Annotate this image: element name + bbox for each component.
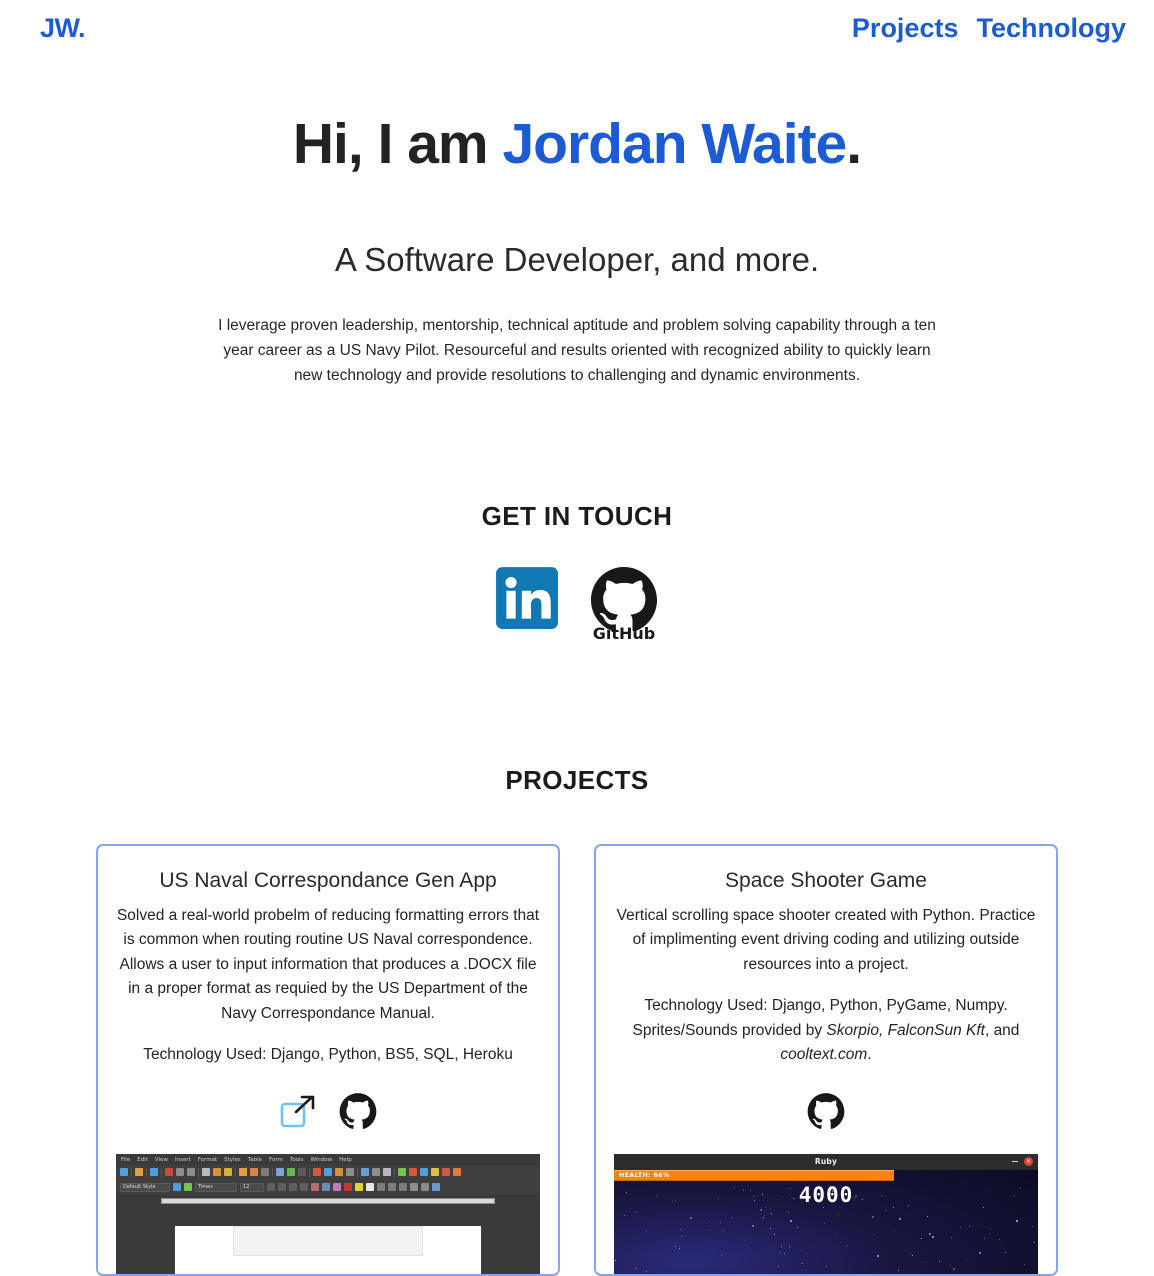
subscript-icon[interactable] bbox=[322, 1183, 330, 1191]
toolbar-separator bbox=[309, 1168, 310, 1177]
hero-subtitle: A Software Developer, and more. bbox=[0, 240, 1154, 280]
find-replace-icon[interactable] bbox=[276, 1168, 284, 1176]
font-color-icon[interactable] bbox=[344, 1183, 352, 1191]
lo-formatting-toolbar: Default Style Times 12 bbox=[116, 1180, 540, 1195]
project-description: Solved a real-world probelm of reducing … bbox=[116, 904, 540, 1026]
undo-icon[interactable] bbox=[250, 1168, 258, 1176]
increase-indent-icon[interactable] bbox=[432, 1183, 440, 1191]
github-icon: GitHub bbox=[588, 565, 660, 641]
save-icon[interactable] bbox=[150, 1168, 158, 1176]
project-technology: Technology Used: Django, Python, BS5, SQ… bbox=[116, 1043, 540, 1067]
underline-icon[interactable] bbox=[289, 1183, 297, 1191]
project-card[interactable]: Space Shooter Game Vertical scrolling sp… bbox=[594, 844, 1058, 1275]
health-label: HEALTH: 66% bbox=[614, 1171, 669, 1179]
font-size-value: 12 bbox=[243, 1184, 249, 1190]
new-style-icon[interactable] bbox=[184, 1183, 192, 1191]
contact-heading: GET IN TOUCH bbox=[0, 501, 1154, 532]
hero-greeting: Hi, I am bbox=[293, 112, 503, 176]
formatting-marks-icon[interactable] bbox=[298, 1168, 306, 1176]
page-break-icon[interactable] bbox=[361, 1168, 369, 1176]
github-link[interactable]: GitHub bbox=[588, 565, 660, 641]
project-thumbnail[interactable]: File Edit View Insert Format Styles Tabl… bbox=[116, 1154, 540, 1274]
italic-icon[interactable] bbox=[278, 1183, 286, 1191]
primary-navigation: Projects Technology bbox=[852, 15, 1126, 42]
paragraph-style-value: Default Style bbox=[123, 1184, 155, 1190]
libreoffice-writer-screenshot: File Edit View Insert Format Styles Tabl… bbox=[116, 1154, 540, 1274]
bold-icon[interactable] bbox=[267, 1183, 275, 1191]
project-technology-suffix: . bbox=[867, 1046, 871, 1063]
brand-logo[interactable]: JW. bbox=[40, 15, 85, 42]
social-links: GitHub bbox=[0, 565, 1154, 641]
font-name-combo[interactable]: Times bbox=[195, 1183, 237, 1192]
highlight-color-icon[interactable] bbox=[355, 1183, 363, 1191]
spelling-icon[interactable] bbox=[287, 1168, 295, 1176]
unordered-list-icon[interactable] bbox=[410, 1183, 418, 1191]
health-bar-fill: HEALTH: 66% bbox=[614, 1170, 894, 1181]
align-justify-icon[interactable] bbox=[399, 1183, 407, 1191]
project-title: Space Shooter Game bbox=[614, 868, 1038, 894]
redo-icon[interactable] bbox=[261, 1168, 269, 1176]
project-credit-skorpio: Skorpio, FalconSun Kft bbox=[826, 1022, 985, 1039]
page-title: Hi, I am Jordan Waite. bbox=[0, 112, 1154, 178]
lo-menu-bar: File Edit View Insert Format Styles Tabl… bbox=[116, 1154, 540, 1165]
track-changes-icon[interactable] bbox=[453, 1168, 461, 1176]
nav-link-technology[interactable]: Technology bbox=[976, 15, 1126, 42]
ordered-list-icon[interactable] bbox=[421, 1183, 429, 1191]
clear-formatting-icon[interactable] bbox=[333, 1183, 341, 1191]
hero-period: . bbox=[846, 112, 861, 176]
strikethrough-icon[interactable] bbox=[300, 1183, 308, 1191]
align-right-icon[interactable] bbox=[388, 1183, 396, 1191]
font-size-combo[interactable]: 12 bbox=[240, 1183, 264, 1192]
font-name-value: Times bbox=[198, 1184, 213, 1190]
linkedin-icon bbox=[494, 565, 560, 631]
clone-formatting-icon[interactable] bbox=[239, 1168, 247, 1176]
bookmark-icon[interactable] bbox=[420, 1168, 428, 1176]
new-doc-icon[interactable] bbox=[120, 1168, 128, 1176]
align-left-icon[interactable] bbox=[366, 1183, 374, 1191]
horizontal-ruler[interactable] bbox=[161, 1198, 496, 1204]
health-bar: HEALTH: 66% bbox=[614, 1170, 1038, 1181]
github-repo-link[interactable] bbox=[806, 1092, 846, 1132]
insert-chart-icon[interactable] bbox=[335, 1168, 343, 1176]
comment-icon[interactable] bbox=[442, 1168, 450, 1176]
toolbar-separator bbox=[131, 1168, 132, 1177]
open-folder-icon[interactable] bbox=[135, 1168, 143, 1176]
export-pdf-icon[interactable] bbox=[165, 1168, 173, 1176]
lo-standard-toolbar bbox=[116, 1165, 540, 1180]
external-link-icon bbox=[278, 1092, 318, 1132]
site-header: JW. Projects Technology bbox=[0, 0, 1154, 56]
toolbar-separator bbox=[394, 1168, 395, 1177]
insert-field-icon[interactable] bbox=[372, 1168, 380, 1176]
cut-icon[interactable] bbox=[202, 1168, 210, 1176]
project-links bbox=[116, 1092, 540, 1132]
projects-heading: PROJECTS bbox=[0, 765, 1154, 796]
github-icon bbox=[338, 1092, 378, 1132]
toolbar-separator bbox=[161, 1168, 162, 1177]
toolbar-separator bbox=[198, 1168, 199, 1177]
projects-grid: US Naval Correspondance Gen App Solved a… bbox=[0, 844, 1154, 1275]
toolbar-separator bbox=[272, 1168, 273, 1177]
project-card[interactable]: US Naval Correspondance Gen App Solved a… bbox=[96, 844, 560, 1275]
svg-text:GitHub: GitHub bbox=[593, 624, 656, 641]
print-preview-icon[interactable] bbox=[187, 1168, 195, 1176]
align-center-icon[interactable] bbox=[377, 1183, 385, 1191]
special-char-icon[interactable] bbox=[383, 1168, 391, 1176]
toolbar-separator bbox=[357, 1168, 358, 1177]
nav-link-projects[interactable]: Projects bbox=[852, 15, 959, 42]
hero-bio-text: I leverage proven leadership, mentorship… bbox=[207, 313, 947, 388]
github-repo-link[interactable] bbox=[338, 1092, 378, 1132]
copy-icon[interactable] bbox=[213, 1168, 221, 1176]
insert-table-icon[interactable] bbox=[313, 1168, 321, 1176]
contact-section: GET IN TOUCH GitHub bbox=[0, 388, 1154, 641]
pygame-window-screenshot: Ruby × HEALTH: 66% 4000 bbox=[614, 1154, 1038, 1274]
external-link-button[interactable] bbox=[278, 1092, 318, 1132]
superscript-icon[interactable] bbox=[311, 1183, 319, 1191]
hero-name: Jordan Waite bbox=[502, 112, 846, 176]
project-technology: Technology Used: Django, Python, PyGame,… bbox=[614, 994, 1038, 1067]
github-icon bbox=[806, 1092, 846, 1132]
project-technology-mid: , and bbox=[985, 1022, 1019, 1039]
linkedin-link[interactable] bbox=[494, 565, 560, 631]
game-score: 4000 bbox=[614, 1183, 1038, 1207]
document-page[interactable] bbox=[175, 1226, 480, 1274]
project-links bbox=[614, 1092, 1038, 1132]
document-content-block bbox=[233, 1226, 422, 1256]
insert-image-icon[interactable] bbox=[324, 1168, 332, 1176]
projects-section: PROJECTS US Naval Correspondance Gen App… bbox=[0, 641, 1154, 1275]
paste-icon[interactable] bbox=[224, 1168, 232, 1176]
cross-reference-icon[interactable] bbox=[431, 1168, 439, 1176]
project-description: Vertical scrolling space shooter created… bbox=[614, 904, 1038, 977]
paragraph-style-combo[interactable]: Default Style bbox=[120, 1183, 170, 1192]
insert-hyperlink-icon[interactable] bbox=[398, 1168, 406, 1176]
footnote-icon[interactable] bbox=[409, 1168, 417, 1176]
update-style-icon[interactable] bbox=[173, 1183, 181, 1191]
hero-section: Hi, I am Jordan Waite. A Software Develo… bbox=[0, 56, 1154, 388]
toolbar-separator bbox=[146, 1168, 147, 1177]
project-title: US Naval Correspondance Gen App bbox=[116, 868, 540, 894]
project-thumbnail[interactable]: Ruby × HEALTH: 66% 4000 bbox=[614, 1154, 1038, 1274]
toolbar-separator bbox=[235, 1168, 236, 1177]
project-credit-cooltext: cooltext.com bbox=[780, 1046, 867, 1063]
insert-textbox-icon[interactable] bbox=[346, 1168, 354, 1176]
print-icon[interactable] bbox=[176, 1168, 184, 1176]
